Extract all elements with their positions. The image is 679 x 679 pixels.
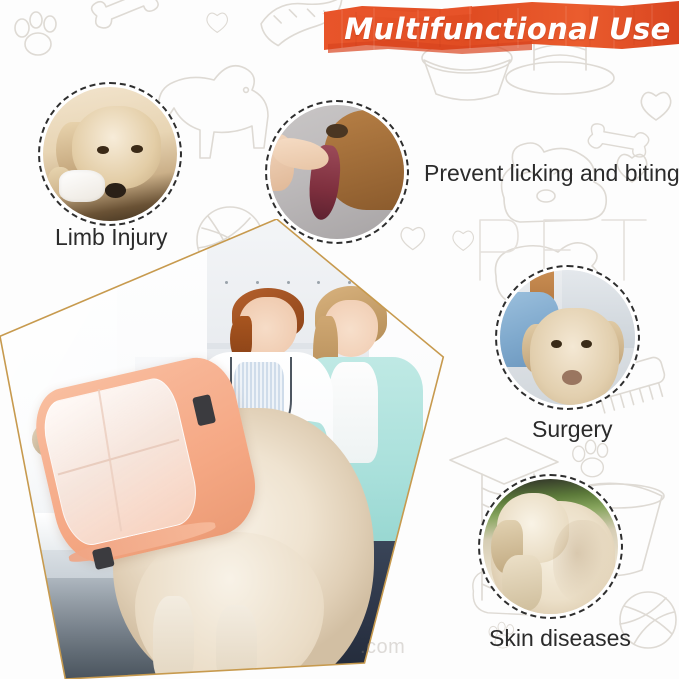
hero-frame-outline: [0, 219, 450, 679]
title-banner: Multifunctional Use: [322, 0, 679, 57]
surgery-label: Surgery: [532, 416, 613, 443]
limb-injury-photo: [43, 87, 177, 221]
infographic-canvas: Multifunctional Use Limb Injury: [0, 0, 679, 679]
skin-diseases-photo: [483, 479, 618, 614]
hero-product-image[interactable]: [0, 219, 450, 679]
feature-prevent-licking[interactable]: [265, 100, 409, 244]
feature-surgery[interactable]: [495, 265, 640, 410]
prevent-licking-photo: [270, 105, 404, 239]
surgery-circle[interactable]: [495, 265, 640, 410]
feature-skin-diseases[interactable]: [478, 474, 623, 619]
surgery-photo: [500, 270, 635, 405]
banner-title: Multifunctional Use: [322, 0, 679, 57]
prevent-licking-circle[interactable]: [265, 100, 409, 244]
skin-diseases-circle[interactable]: [478, 474, 623, 619]
prevent-licking-label: Prevent licking and biting: [424, 160, 679, 187]
limb-injury-circle[interactable]: [38, 82, 182, 226]
skin-diseases-label: Skin diseases: [489, 625, 631, 652]
feature-limb-injury[interactable]: [38, 82, 182, 226]
